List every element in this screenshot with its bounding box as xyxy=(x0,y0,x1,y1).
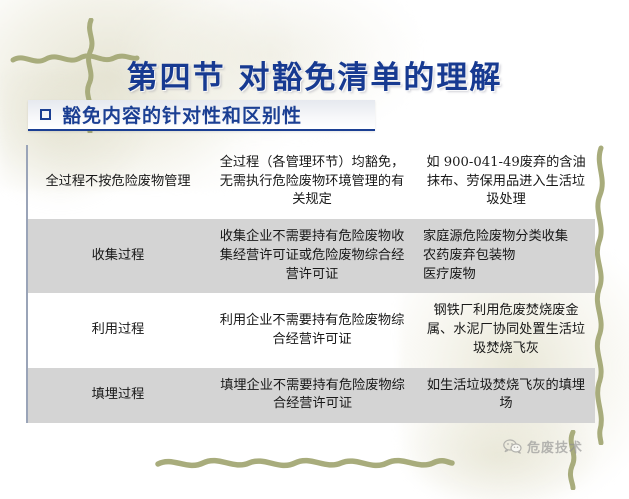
cell-example: 如生活垃圾焚烧飞灰的填埋场 xyxy=(417,368,595,423)
exemption-table: 全过程不按危险废物管理 全过程（各管理环节）均豁免，无需执行危险废物环境管理的有… xyxy=(26,145,595,423)
square-bullet-icon xyxy=(40,109,51,120)
cell-example: 家庭源危险废物分类收集 农药废弃包装物 医疗废物 xyxy=(417,219,595,293)
cell-example: 钢铁厂利用危废焚烧废金属、水泥厂协同处置生活垃圾焚烧飞灰 xyxy=(417,293,595,367)
cell-requirement: 利用企业不需要持有危险废物综合经营许可证 xyxy=(208,293,417,367)
table-row: 收集过程 收集企业不需要持有危险废物收集经营许可证或危险废物综合经营许可证 家庭… xyxy=(27,219,595,293)
content-table-wrapper: 全过程不按危险废物管理 全过程（各管理环节）均豁免，无需执行危险废物环境管理的有… xyxy=(26,145,556,423)
cell-requirement: 全过程（各管理环节）均豁免，无需执行危险废物环境管理的有关规定 xyxy=(208,145,417,219)
cell-example: 如 900-041-49废弃的含油抹布、劳保用品进入生活垃圾处理 xyxy=(417,145,595,219)
watermark: 危废技术 xyxy=(503,437,583,456)
table-row: 全过程不按危险废物管理 全过程（各管理环节）均豁免，无需执行危险废物环境管理的有… xyxy=(27,145,595,219)
cell-stage: 利用过程 xyxy=(27,293,208,367)
brush-stroke-horizontal-bottom xyxy=(155,452,455,474)
cell-stage: 收集过程 xyxy=(27,219,208,293)
cell-requirement: 收集企业不需要持有危险废物收集经营许可证或危险废物综合经营许可证 xyxy=(208,219,417,293)
subtitle-text: 豁免内容的针对性和区别性 xyxy=(62,101,302,128)
table-row: 填埋过程 填埋企业不需要持有危险废物综合经营许可证 如生活垃圾焚烧飞灰的填埋场 xyxy=(27,368,595,423)
slide-title: 第四节 对豁免清单的理解 xyxy=(0,52,629,97)
cell-stage: 全过程不按危险废物管理 xyxy=(27,145,208,219)
wechat-icon xyxy=(503,439,522,454)
cell-requirement: 填埋企业不需要持有危险废物综合经营许可证 xyxy=(208,368,417,423)
slide-canvas: 第四节 对豁免清单的理解 豁免内容的针对性和区别性 全过程不按危险废物管理 全过… xyxy=(0,0,629,499)
cell-stage: 填埋过程 xyxy=(27,368,208,423)
table-row: 利用过程 利用企业不需要持有危险废物综合经营许可证 钢铁厂利用危废焚烧废金属、水… xyxy=(27,293,595,367)
watermark-text: 危废技术 xyxy=(527,437,583,456)
subtitle-banner: 豁免内容的针对性和区别性 xyxy=(28,100,375,131)
